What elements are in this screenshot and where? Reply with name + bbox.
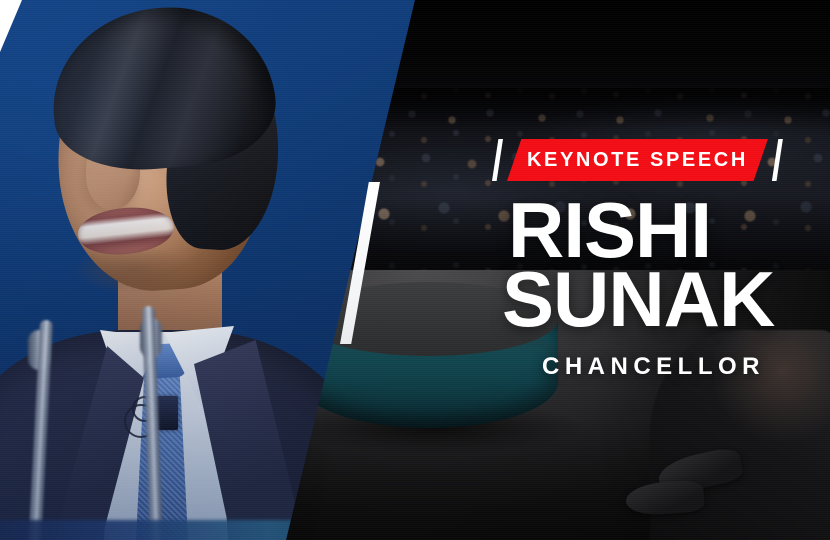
title-block: RISHI SUNAK CHANCELLOR [508,196,808,381]
crowd-row-back [360,98,830,138]
banner-label: KEYNOTE SPEECH [527,150,748,170]
clip-microphone [156,396,178,430]
title-card-graphic: KEYNOTE SPEECH RISHI SUNAK CHANCELLOR [0,0,830,540]
banner-tick-left-icon [492,139,503,181]
title-line-second: SUNAK [502,265,808,334]
chin-shadow [72,246,194,294]
banner-tick-right-icon [772,139,783,181]
banner-red-plate: KEYNOTE SPEECH [507,139,768,181]
subtitle-role: CHANCELLOR [542,353,808,381]
keynote-banner: KEYNOTE SPEECH [492,139,783,181]
